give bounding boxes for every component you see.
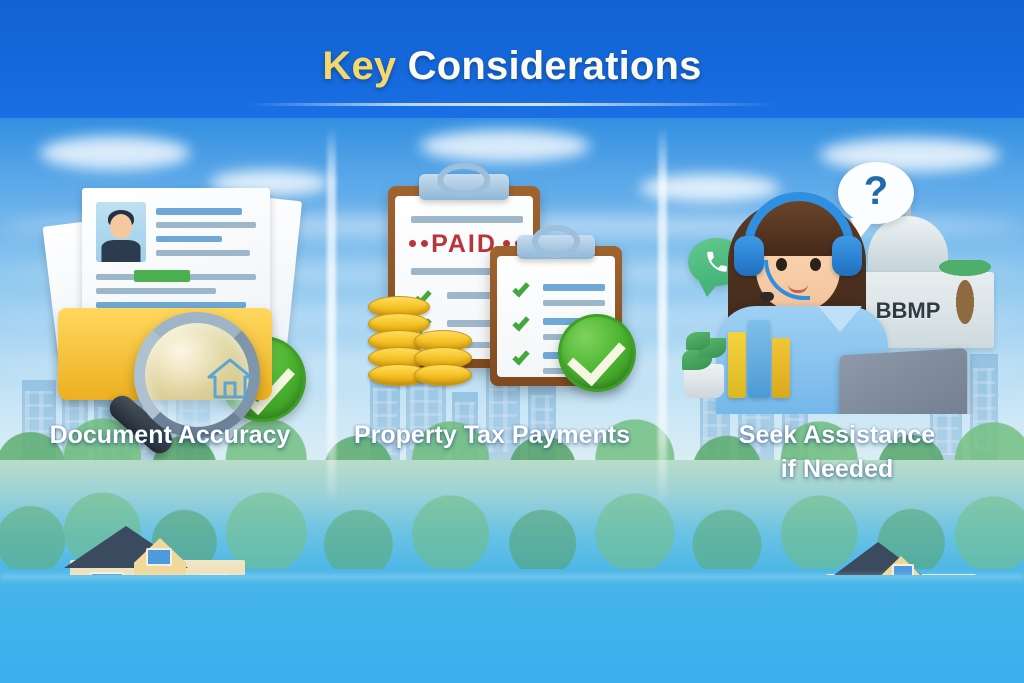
panel-property-tax-payments[interactable]: PAID bbox=[342, 150, 642, 500]
title-underline-divider bbox=[248, 103, 776, 106]
seek-assistance-illustration: BBMP ? bbox=[682, 156, 998, 414]
checkmark-icon bbox=[512, 348, 529, 366]
clipboard-clip-icon bbox=[419, 174, 509, 200]
binder-icon bbox=[748, 320, 770, 398]
microphone-icon bbox=[760, 292, 774, 301]
column-divider-2 bbox=[658, 126, 667, 506]
headset-earcup-icon bbox=[734, 236, 764, 276]
panel-caption-seek-assistance: Seek Assistance if Needed bbox=[672, 418, 1002, 486]
water-highlight bbox=[0, 575, 1024, 579]
house-icon bbox=[207, 357, 253, 399]
column-divider-1 bbox=[327, 126, 336, 506]
caption-line-2: if Needed bbox=[672, 452, 1002, 486]
document-accuracy-illustration bbox=[42, 160, 310, 412]
question-mark-label: ? bbox=[838, 169, 914, 214]
green-check-badge-icon bbox=[558, 314, 636, 392]
question-bubble-icon: ? bbox=[838, 162, 914, 224]
phone-icon bbox=[704, 249, 730, 275]
plant-leaf-icon bbox=[686, 332, 710, 350]
infographic-canvas: Key Considerations bbox=[0, 0, 1024, 683]
headset-earcup-icon bbox=[832, 236, 862, 276]
water-band bbox=[0, 575, 1024, 683]
panel-caption-document-accuracy: Document Accuracy bbox=[20, 418, 320, 452]
coin-stack-icon bbox=[414, 330, 472, 392]
property-tax-illustration: PAID bbox=[366, 162, 636, 412]
laptop-icon bbox=[839, 348, 967, 414]
caption-line-1: Seek Assistance bbox=[672, 418, 1002, 452]
panel-document-accuracy[interactable]: Document Accuracy bbox=[20, 150, 320, 500]
binder-icon bbox=[772, 338, 790, 398]
page-title: Key Considerations bbox=[0, 44, 1024, 89]
panel-seek-assistance[interactable]: BBMP ? bbox=[672, 150, 1002, 500]
title-highlight: Key bbox=[322, 44, 396, 88]
palm-tree-icon bbox=[938, 260, 992, 330]
clipboard-clip-icon bbox=[517, 235, 595, 259]
binder-icon bbox=[728, 332, 746, 398]
checkmark-icon bbox=[512, 314, 529, 332]
id-photo-icon bbox=[96, 202, 146, 262]
agent-collar bbox=[818, 306, 862, 332]
title-rest: Considerations bbox=[396, 44, 701, 88]
checkmark-icon bbox=[512, 280, 529, 298]
panel-caption-property-tax-payments: Property Tax Payments bbox=[342, 418, 642, 452]
